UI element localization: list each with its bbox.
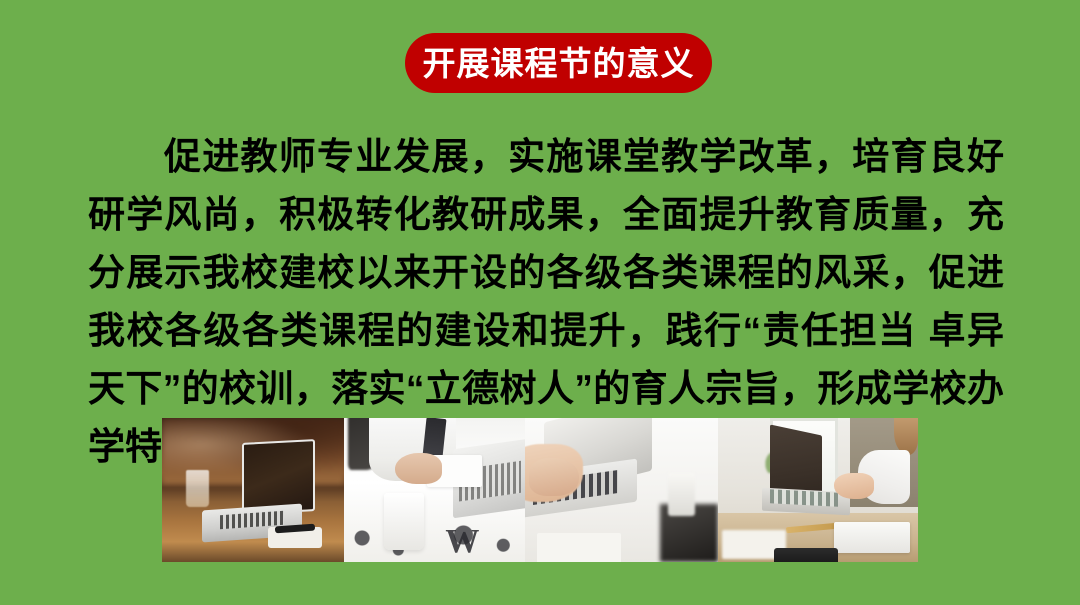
photo2-hand xyxy=(395,453,442,485)
photo4-notebook xyxy=(834,522,910,554)
photo4-phone xyxy=(774,548,838,562)
photo2-printed-letters xyxy=(344,502,525,562)
photo2-mug xyxy=(384,493,424,551)
photo3-paper-sheet xyxy=(537,533,622,562)
photo1-glass xyxy=(186,470,210,507)
photo3-hand-right xyxy=(529,458,579,495)
title-banner: 开展课程节的意义 xyxy=(405,33,712,93)
slide-root: 开展课程节的意义 促进教师专业发展，实施课堂教学改革，培育良好研学风尚，积极转化… xyxy=(0,0,1080,605)
photo-hands-typing xyxy=(525,418,718,562)
photo-writing-white-desk: W xyxy=(344,418,525,562)
page-title: 开展课程节的意义 xyxy=(423,47,695,80)
photo2-letter-w: W xyxy=(445,525,479,559)
photo-woman-typing-window xyxy=(718,418,918,562)
photo3-cup xyxy=(668,473,695,516)
photo-strip: W xyxy=(162,418,918,562)
photo-laptop-wooden-desk xyxy=(162,418,344,562)
photo1-laptop-screen xyxy=(242,439,315,515)
photo4-hand xyxy=(834,473,874,499)
